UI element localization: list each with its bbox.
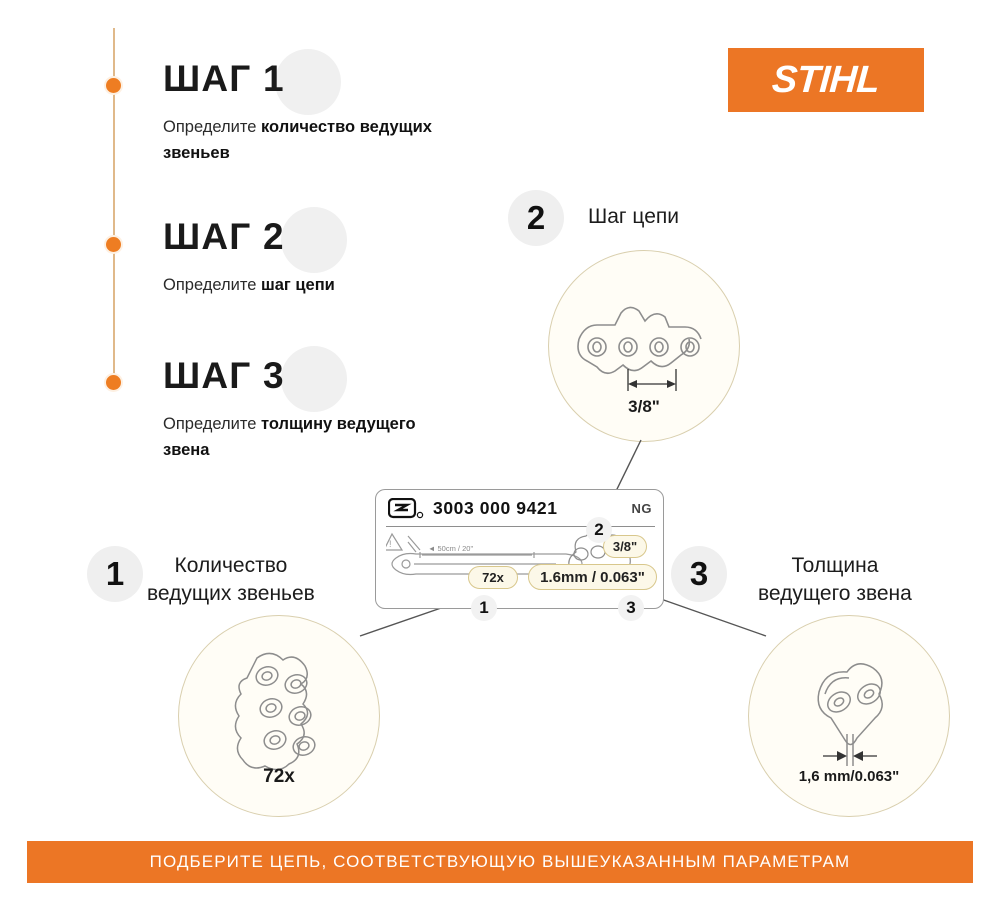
bottom-banner: ПОДБЕРИТЕ ЦЕПЬ, СООТВЕТСТВУЮЩУЮ ВЫШЕУКАЗ…: [27, 841, 973, 883]
badge-step-1: 1: [87, 546, 143, 602]
mini-badge-3: 3: [618, 595, 644, 621]
heading-pitch: Шаг цепи: [588, 203, 679, 231]
detail-circle-pitch: 3/8": [548, 250, 740, 442]
step-description-3: Определите толщину ведущего звена: [163, 411, 463, 464]
heading-count: Количество ведущих звеньев: [147, 552, 315, 609]
label-drive-links-highlight: 72x: [468, 566, 518, 589]
step-description-3-prefix: Определите: [163, 415, 261, 433]
label-bar-length: ◄ 50cm / 20": [428, 544, 473, 553]
label-type-code: NG: [632, 501, 653, 516]
arrow-left-small-icon: [853, 751, 863, 761]
badge-step-3: 3: [671, 546, 727, 602]
timeline-dot-step-2: [106, 237, 121, 252]
step-block-1: ШАГ 1 Определите количество ведущих звен…: [163, 60, 463, 167]
step-block-2: ШАГ 2 Определите шаг цепи: [163, 218, 335, 298]
heading-count-line2: ведущих звеньев: [147, 580, 315, 608]
heading-count-line1: Количество: [147, 552, 315, 580]
detail-circle-count: 72x: [178, 615, 380, 817]
step-title-3: ШАГ 3: [163, 357, 463, 394]
arrow-right-small-icon: [837, 751, 847, 761]
step-description-2-bold: шаг цепи: [261, 276, 335, 294]
label-gauge-highlight: 1.6mm / 0.063": [528, 564, 657, 590]
drive-link-gauge-illustration: [749, 616, 949, 816]
step-description-1: Определите количество ведущих звеньев: [163, 114, 463, 167]
arrow-left-icon: [628, 380, 637, 388]
product-label: 3003 000 9421 NG ! ◄ 50cm / 20": [375, 489, 664, 609]
infographic-canvas: STIHL ШАГ 1 Определите количество ведущи…: [0, 0, 1000, 900]
label-pitch-highlight: 3/8": [603, 535, 647, 558]
label-divider: [386, 526, 655, 527]
step-description-1-prefix: Определите: [163, 118, 261, 136]
pitch-value: 3/8": [549, 397, 739, 417]
step-title-1: ШАГ 1: [163, 60, 463, 97]
label-part-number: 3003 000 9421: [433, 498, 558, 519]
stihl-logo: STIHL: [728, 48, 924, 112]
stihl-logo-text: STIHL: [771, 59, 881, 102]
stihl-mark-icon: [388, 498, 428, 520]
mini-badge-2: 2: [586, 517, 612, 543]
step-title-2: ШАГ 2: [163, 218, 335, 255]
count-value: 72x: [179, 766, 379, 788]
svg-text:!: !: [389, 539, 392, 549]
detail-circle-gauge: 1,6 mm/0.063": [748, 615, 950, 817]
step-block-3: ШАГ 3 Определите толщину ведущего звена: [163, 357, 463, 464]
heading-gauge: Толщина ведущего звена: [758, 552, 912, 609]
mini-badge-1: 1: [471, 595, 497, 621]
arrow-right-icon: [667, 380, 676, 388]
gauge-value: 1,6 mm/0.063": [749, 768, 949, 785]
timeline-dot-step-1: [106, 78, 121, 93]
heading-gauge-line2: ведущего звена: [758, 580, 912, 608]
step-description-2: Определите шаг цепи: [163, 272, 335, 298]
badge-step-2: 2: [508, 190, 564, 246]
step-description-2-prefix: Определите: [163, 276, 261, 294]
timeline-dot-step-3: [106, 375, 121, 390]
bottom-banner-text: ПОДБЕРИТЕ ЦЕПЬ, СООТВЕТСТВУЮЩУЮ ВЫШЕУКАЗ…: [150, 852, 851, 872]
heading-gauge-line1: Толщина: [758, 552, 912, 580]
